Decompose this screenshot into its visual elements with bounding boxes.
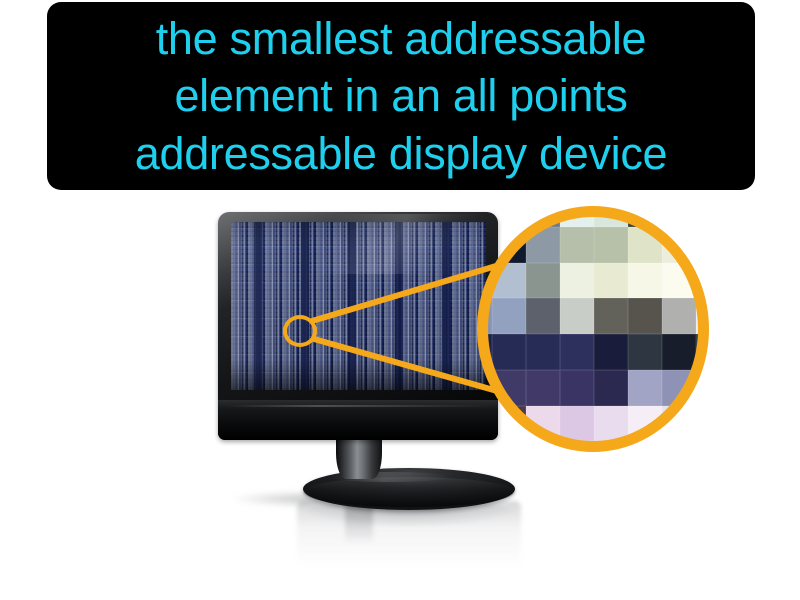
pixel-cell [492, 263, 526, 299]
pixel-cell [526, 334, 560, 370]
pixel-cell [628, 370, 662, 406]
pixel-cell [662, 263, 696, 299]
pixel-cell [492, 370, 526, 406]
pixel-cell [662, 213, 696, 227]
pixel-cell [594, 227, 628, 263]
pixel-cell [628, 406, 662, 442]
pixel-cell [594, 213, 628, 227]
pixel-cell [560, 406, 594, 442]
pixel-cell [526, 213, 560, 227]
pixel-cell [662, 441, 696, 445]
pixel-cell [526, 441, 560, 445]
pixel-cell [492, 441, 526, 445]
pixel-illustration [0, 195, 800, 600]
pixel-cell [696, 370, 702, 406]
pixel-cell [492, 298, 526, 334]
pixel-cell [628, 298, 662, 334]
pixel-cell [560, 298, 594, 334]
pixel-cell [484, 370, 492, 406]
pixel-cell [484, 406, 492, 442]
pixel-cell [526, 298, 560, 334]
pixel-cell [484, 263, 492, 299]
pixel-cell [560, 370, 594, 406]
pixel-cell [526, 263, 560, 299]
pixel-cell [594, 263, 628, 299]
pixel-cell [484, 227, 492, 263]
definition-card: the smallest addressable element in an a… [47, 2, 755, 190]
pixel-grid [484, 213, 702, 445]
pixel-cell [484, 298, 492, 334]
pixel-cell [662, 406, 696, 442]
pixel-cell [662, 298, 696, 334]
magnified-pixel-view [484, 213, 702, 445]
definition-text: the smallest addressable element in an a… [127, 10, 676, 183]
pixel-cell [696, 406, 702, 442]
pixel-cell [492, 227, 526, 263]
pixel-cell [594, 334, 628, 370]
pixel-cell [560, 213, 594, 227]
pixel-cell [492, 406, 526, 442]
pixel-cell [526, 227, 560, 263]
pixel-cell [662, 334, 696, 370]
pixel-cell [560, 334, 594, 370]
pixel-cell [628, 334, 662, 370]
pixel-cell [628, 213, 662, 227]
pixel-cell [696, 334, 702, 370]
pixel-cell [492, 213, 526, 227]
pixel-cell [662, 370, 696, 406]
pixel-cell [560, 441, 594, 445]
pixel-cell [628, 263, 662, 299]
pixel-cell [696, 213, 702, 227]
pixel-cell [560, 263, 594, 299]
pixel-cell [594, 441, 628, 445]
pixel-cell [696, 441, 702, 445]
pixel-cell [628, 441, 662, 445]
pixel-cell [628, 227, 662, 263]
pixel-cell [560, 227, 594, 263]
pixel-cell [696, 227, 702, 263]
pixel-cell [526, 370, 560, 406]
pixel-cell [696, 263, 702, 299]
pixel-cell [662, 227, 696, 263]
pixel-cell [492, 334, 526, 370]
magnifier-source-ring [283, 315, 317, 347]
pixel-cell [594, 406, 628, 442]
pixel-cell [594, 370, 628, 406]
pixel-cell [696, 298, 702, 334]
pixel-cell [484, 441, 492, 445]
pixel-cell [526, 406, 560, 442]
pixel-cell [484, 334, 492, 370]
pixel-cell [594, 298, 628, 334]
pixel-cell [484, 213, 492, 227]
